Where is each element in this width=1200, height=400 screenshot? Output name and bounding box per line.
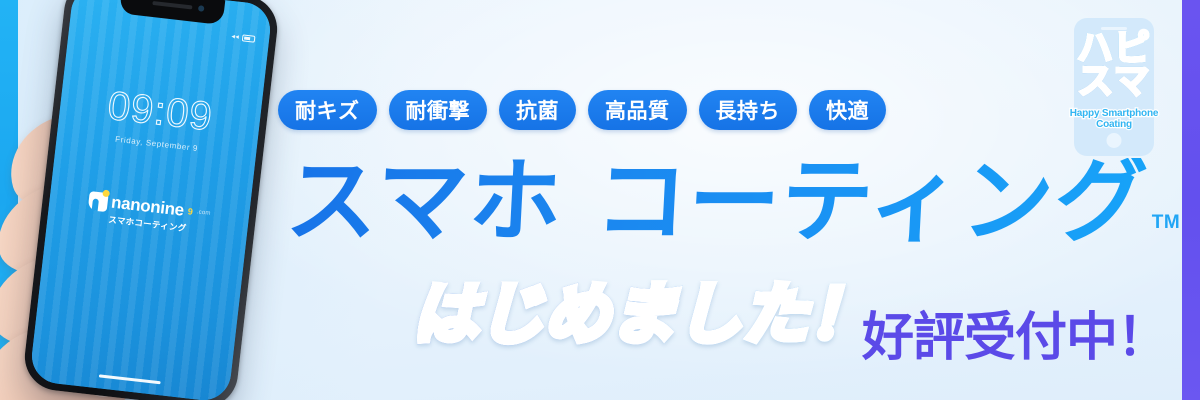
headline-sub-text: はじめました！	[412, 282, 874, 348]
front-camera-icon	[198, 5, 205, 12]
feature-badge-antibacterial: 抗菌	[499, 90, 576, 130]
headline-group: スマホ コーティング TM	[286, 158, 1180, 246]
earpiece-speaker-icon	[152, 1, 192, 10]
trademark-mark: TM	[1152, 212, 1180, 234]
feature-badge-high-quality: 高品質	[588, 90, 687, 130]
phone-notch	[119, 0, 225, 25]
feature-badge-impact-resistant: 耐衝撃	[389, 90, 488, 130]
logo-japanese-name: ハピ スマ	[1056, 32, 1172, 98]
logo-tagline: Happy Smartphone Coating	[1054, 108, 1174, 130]
feature-badge-long-lasting: 長持ち	[699, 90, 798, 130]
battery-icon	[242, 34, 256, 42]
feature-badge-scratch-resistant: 耐キズ	[278, 90, 377, 130]
nanonine-logo-icon	[87, 191, 108, 212]
home-indicator	[99, 374, 161, 384]
logo-name-line-2: スマ	[1056, 65, 1172, 98]
phone-screen: ◂◂ 09:09 Friday, September 9 nanonine 9 …	[29, 0, 273, 400]
nanonine-brand-lockup: nanonine 9 .com スマホコーティング	[47, 186, 249, 241]
nanonine-superscript: 9	[187, 206, 193, 217]
cta-text: 好評受付中！	[862, 312, 1168, 364]
status-bar: ◂◂	[231, 32, 256, 43]
right-edge-stripe	[1182, 0, 1200, 400]
headline-main-text: スマホ コーティング	[284, 158, 1150, 246]
hapisuma-logo: ハピ スマ Happy Smartphone Coating	[1056, 12, 1172, 162]
feature-badge-comfortable: 快適	[809, 90, 886, 130]
nanonine-tld: .com	[196, 209, 210, 217]
smartphone-device: ◂◂ 09:09 Friday, September 9 nanonine 9 …	[21, 0, 280, 400]
hand-holding-phone-photo: ◂◂ 09:09 Friday, September 9 nanonine 9 …	[0, 0, 300, 400]
feature-badge-list: 耐キズ 耐衝撃 抗菌 高品質 長持ち 快適	[278, 90, 886, 130]
promo-banner: ◂◂ 09:09 Friday, September 9 nanonine 9 …	[0, 0, 1200, 400]
signal-icon: ◂◂	[231, 32, 240, 41]
nanonine-dot-icon	[102, 189, 110, 197]
